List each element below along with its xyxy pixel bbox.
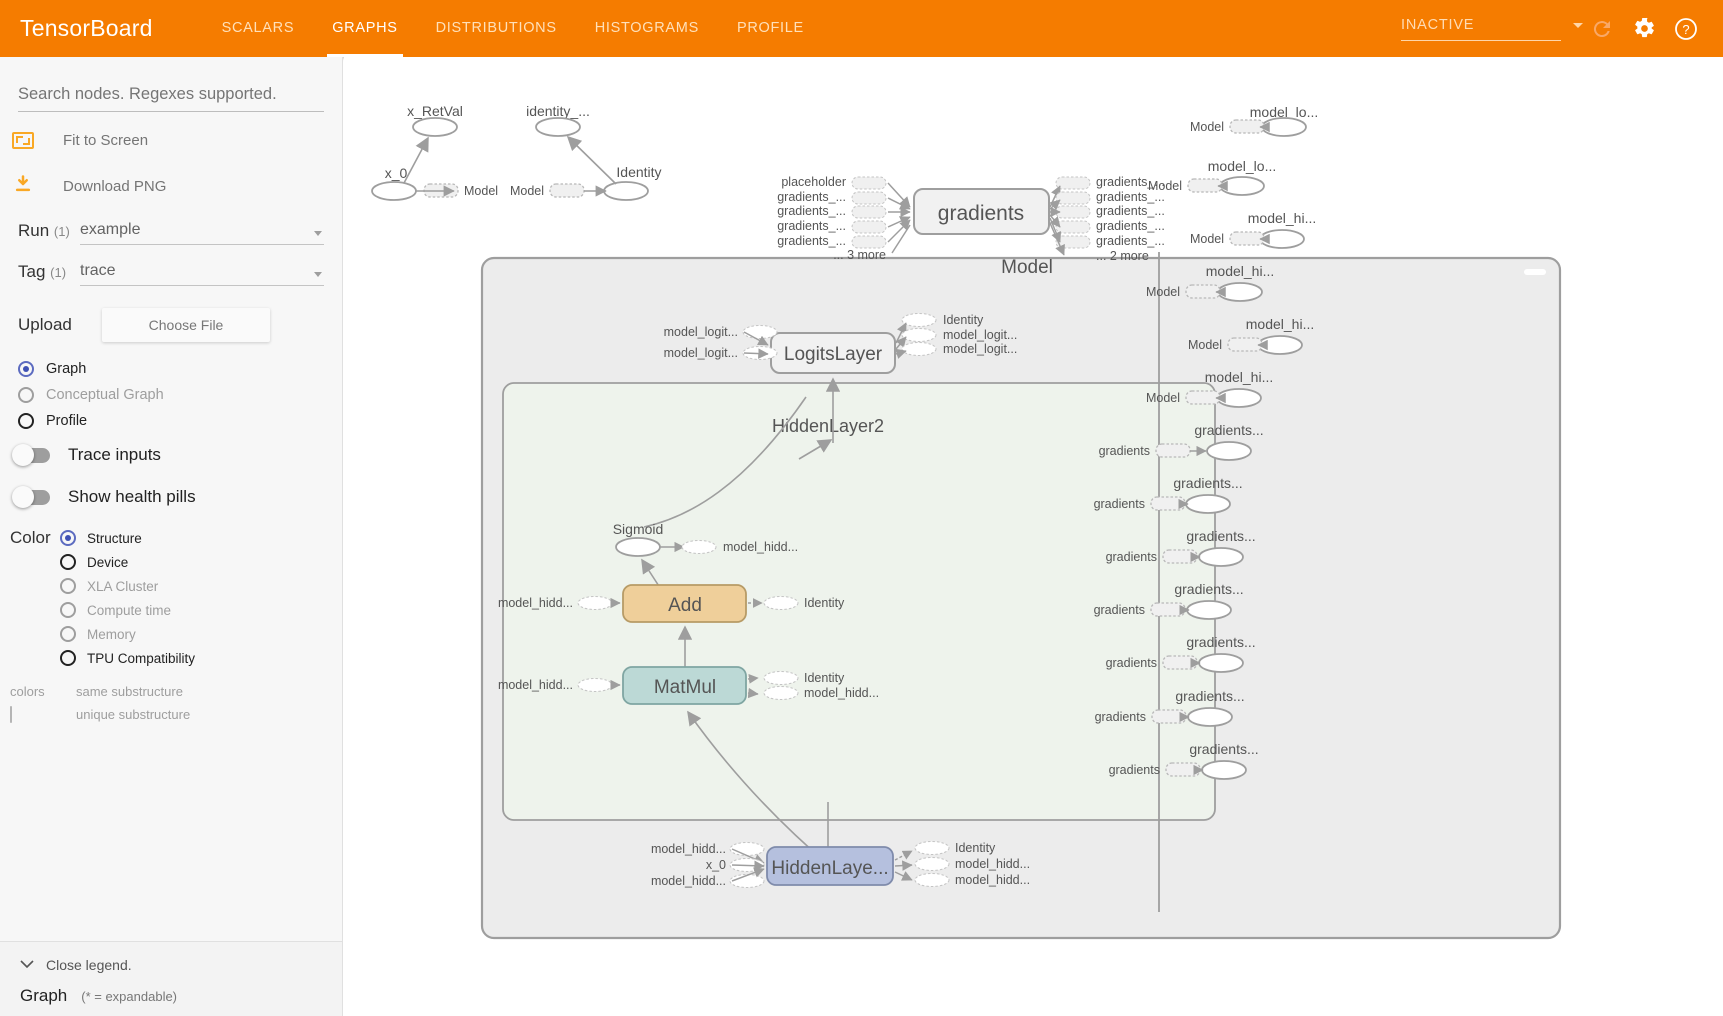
hiddenlayer-input-label: x_0 <box>706 858 726 872</box>
annotation-label-model: Model <box>464 184 498 198</box>
node-label-identity: Identity <box>616 164 661 180</box>
cluster-model-title: Model <box>1001 257 1053 278</box>
main-nav-tabs: SCALARS GRAPHS DISTRIBUTIONS HISTOGRAMS … <box>203 0 823 57</box>
tab-distributions[interactable]: DISTRIBUTIONS <box>417 0 576 57</box>
radio-conceptual-graph[interactable]: Conceptual Graph <box>0 382 342 408</box>
annotation-node <box>1186 391 1220 404</box>
annotation-node <box>1166 763 1200 776</box>
run-status-select[interactable]: INACTIVE <box>1401 17 1561 41</box>
annotation-node <box>1230 232 1264 245</box>
right-node-label: gradients... <box>1189 741 1258 757</box>
annotation-node <box>852 236 886 248</box>
annotation-node <box>1152 710 1186 723</box>
right-node-source: Model <box>1188 338 1222 352</box>
right-node-label: model_hi... <box>1205 369 1273 385</box>
gear-icon[interactable] <box>1623 8 1665 50</box>
color-radio-group: Color Structure Device XLA Cluster Compu… <box>0 526 342 670</box>
chevron-down-icon <box>314 272 322 277</box>
hiddenlayer-output-label: Identity <box>955 841 996 855</box>
annotation-node-model-2 <box>550 184 584 197</box>
add-input-label: model_hidd... <box>498 596 573 610</box>
right-node-source: Model <box>1146 391 1180 405</box>
radio-color-compute-time[interactable]: Compute time <box>60 598 195 622</box>
right-node[interactable] <box>1260 230 1304 248</box>
node-identity-dots[interactable] <box>536 118 580 136</box>
legend-graph-row: Graph (* = expandable) <box>20 986 343 1006</box>
right-node-source: gradients <box>1094 497 1145 511</box>
gradients-output-more-label: ... 2 more <box>1096 249 1149 263</box>
right-node[interactable] <box>1199 548 1243 566</box>
node-gradients-group[interactable]: gradients placeholder gradients_... grad… <box>777 175 1165 263</box>
node-label-identity-dots: identity_... <box>526 103 590 119</box>
annotation-node <box>852 177 886 189</box>
annotation-node <box>1056 206 1090 218</box>
right-node-source: gradients <box>1099 444 1150 458</box>
legend-graph-hint: (* = expandable) <box>81 989 177 1004</box>
upload-row: Upload Choose File <box>0 308 342 342</box>
annotation-node <box>1163 550 1197 563</box>
node-identity[interactable] <box>604 182 648 200</box>
hiddenlayer-input-label: model_hidd... <box>651 874 726 888</box>
node-logitslayer-label: LogitsLayer <box>784 344 883 365</box>
annotation-node <box>902 314 936 327</box>
right-node-label: gradients... <box>1173 475 1242 491</box>
radio-icon <box>18 387 34 403</box>
node-x-retval[interactable] <box>413 118 457 136</box>
node-label-x-0: x_0 <box>385 165 408 181</box>
logits-output-label: model_logit... <box>943 342 1017 356</box>
radio-icon <box>60 650 76 666</box>
fit-to-screen-button[interactable]: Fit to Screen <box>0 122 342 158</box>
radio-color-device-label: Device <box>87 555 128 570</box>
annotation-node <box>1151 603 1185 616</box>
annotation-node <box>852 206 886 218</box>
legend-unique-label: unique substructure <box>76 707 190 722</box>
annotation-node <box>682 541 716 554</box>
fit-to-screen-label: Fit to Screen <box>63 132 148 149</box>
annotation-node <box>902 343 936 356</box>
right-node-label: gradients... <box>1186 528 1255 544</box>
matmul-output-label: model_hidd... <box>804 686 879 700</box>
radio-icon <box>60 578 76 594</box>
logits-input-label: model_logit... <box>664 325 738 339</box>
annotation-node <box>1186 285 1220 298</box>
radio-color-structure[interactable]: Structure <box>60 526 195 550</box>
app-brand: TensorBoard <box>20 15 153 42</box>
structure-color-legend: colors same substructure unique substruc… <box>0 680 342 726</box>
top-bar-right-controls: INACTIVE ? <box>1401 8 1723 50</box>
trace-inputs-label: Trace inputs <box>68 445 161 465</box>
radio-graph-label: Graph <box>46 361 86 377</box>
annotation-node <box>578 597 612 610</box>
right-node-source: Model <box>1148 179 1182 193</box>
show-health-pills-label: Show health pills <box>68 487 196 507</box>
annotation-node <box>578 679 612 692</box>
radio-color-xla-cluster[interactable]: XLA Cluster <box>60 574 195 598</box>
gradients-output-label: gradients_... <box>1096 204 1165 218</box>
legend-same-label: same substructure <box>76 684 183 699</box>
annotation-node <box>1056 192 1090 204</box>
node-hiddenlayer-label: HiddenLaye... <box>771 858 888 879</box>
graph-type-radio-group: Graph Conceptual Graph Profile <box>0 356 342 434</box>
gradients-output-label: gradients_... <box>1096 234 1165 248</box>
right-node[interactable] <box>1187 601 1231 619</box>
run-dropdown[interactable]: example <box>80 221 324 245</box>
subgraph-identity: identity_... Identity Model <box>510 103 662 200</box>
radio-icon <box>60 554 76 570</box>
search-input[interactable] <box>18 81 324 112</box>
radio-color-structure-label: Structure <box>87 531 142 546</box>
annotation-node <box>1056 236 1090 248</box>
gradients-output-label: gradients_... <box>1096 219 1165 233</box>
gradients-input-label: gradients_... <box>777 234 846 248</box>
legend-graph-title: Graph <box>20 986 67 1006</box>
refresh-icon[interactable] <box>1581 8 1623 50</box>
right-node[interactable] <box>1218 283 1262 301</box>
right-node[interactable] <box>1199 654 1243 672</box>
annotation-node <box>1056 221 1090 233</box>
right-node-source: gradients <box>1094 603 1145 617</box>
hiddenlayer-input-label: model_hidd... <box>651 842 726 856</box>
right-node-label: model_hi... <box>1246 316 1314 332</box>
annotation-label-model-2: Model <box>510 184 544 198</box>
annotation-node <box>1156 444 1190 457</box>
choose-file-button[interactable]: Choose File <box>102 308 270 342</box>
right-node-label: gradients... <box>1175 688 1244 704</box>
tab-scalars[interactable]: SCALARS <box>203 0 314 57</box>
logits-output-label: model_logit... <box>943 328 1017 342</box>
search-container <box>0 57 342 112</box>
annotation-node <box>743 326 777 339</box>
tag-label: Tag (1) <box>18 259 80 286</box>
run-label: Run (1) <box>18 218 80 245</box>
right-node-label: model_hi... <box>1206 263 1274 279</box>
tag-value: trace <box>80 262 116 279</box>
add-output-label: Identity <box>804 596 845 610</box>
matmul-input-label: model_hidd... <box>498 678 573 692</box>
toggle-switch-icon <box>14 490 50 505</box>
download-png-label: Download PNG <box>63 178 166 195</box>
radio-color-tpu-compatibility[interactable]: TPU Compatibility <box>60 646 195 670</box>
right-node-source: gradients <box>1106 550 1157 564</box>
left-sidebar: Fit to Screen Download PNG Run (1) examp… <box>0 57 343 1016</box>
radio-color-compute-time-label: Compute time <box>87 603 171 618</box>
right-node-source: gradients <box>1095 710 1146 724</box>
right-node[interactable] <box>1188 708 1232 726</box>
annotation-node <box>730 875 764 888</box>
tag-dropdown[interactable]: trace <box>80 262 324 286</box>
annotation-node <box>764 687 798 700</box>
right-node-label: gradients... <box>1174 581 1243 597</box>
run-selector-row: Run (1) example <box>0 218 342 245</box>
color-title: Color <box>10 526 60 670</box>
tab-histograms[interactable]: HISTOGRAMS <box>576 0 718 57</box>
right-node-source: gradients <box>1106 656 1157 670</box>
radio-icon <box>18 413 34 429</box>
annotation-node <box>852 221 886 233</box>
annotation-node <box>764 597 798 610</box>
annotation-node <box>1188 179 1222 192</box>
tab-graphs[interactable]: GRAPHS <box>313 0 416 57</box>
radio-color-device[interactable]: Device <box>60 550 195 574</box>
download-png-button[interactable]: Download PNG <box>0 168 342 204</box>
chevron-down-icon <box>20 956 34 974</box>
svg-text:?: ? <box>1682 22 1689 37</box>
gradients-inputs: placeholder gradients_... gradients_... … <box>777 175 910 262</box>
logits-output-label: Identity <box>943 313 984 327</box>
annotation-node <box>915 874 949 887</box>
sigmoid-output-label: model_hidd... <box>723 540 798 554</box>
right-node[interactable] <box>1207 442 1251 460</box>
right-node-label: model_hi... <box>1248 210 1316 226</box>
node-add-label: Add <box>668 595 702 616</box>
annotation-node <box>915 842 949 855</box>
run-value: example <box>80 221 140 238</box>
annotation-node <box>1151 497 1185 510</box>
run-status-value: INACTIVE <box>1401 17 1561 33</box>
right-node-label: gradients... <box>1186 634 1255 650</box>
right-node-source: Model <box>1146 285 1180 299</box>
legend-swatch <box>10 706 12 723</box>
node-x-0[interactable] <box>372 182 416 200</box>
right-node-label: model_lo... <box>1208 158 1276 174</box>
graph-canvas[interactable]: Model HiddenLayer2 x_RetVal x_0 Model id… <box>344 57 1723 1016</box>
annotation-node <box>730 843 764 856</box>
right-node[interactable] <box>1262 118 1306 136</box>
annotation-node <box>1163 656 1197 669</box>
right-node-label: gradients... <box>1194 422 1263 438</box>
annotation-node <box>915 858 949 871</box>
radio-color-xla-cluster-label: XLA Cluster <box>87 579 158 594</box>
right-node-source: gradients <box>1109 763 1160 777</box>
tab-profile[interactable]: PROFILE <box>718 0 823 57</box>
top-app-bar: TensorBoard SCALARS GRAPHS DISTRIBUTIONS… <box>0 0 1723 57</box>
radio-icon <box>60 530 76 546</box>
radio-icon <box>60 626 76 642</box>
close-legend-label: Close legend. <box>46 957 132 973</box>
show-health-pills-toggle[interactable]: Show health pills <box>0 476 342 518</box>
radio-color-memory-label: Memory <box>87 627 136 642</box>
node-gradients-label: gradients <box>938 202 1024 225</box>
right-node[interactable] <box>1217 389 1261 407</box>
gradients-input-label: gradients_... <box>777 190 846 204</box>
right-node[interactable] <box>1202 761 1246 779</box>
cluster-hiddenlayer2-title: HiddenLayer2 <box>772 416 884 436</box>
legend-colors-label: colors <box>10 684 62 699</box>
radio-profile-label: Profile <box>46 413 87 429</box>
annotation-node <box>902 329 936 342</box>
radio-graph[interactable]: Graph <box>0 356 342 382</box>
node-sigmoid[interactable] <box>616 538 660 556</box>
gradients-input-label: placeholder <box>781 175 846 189</box>
upload-label: Upload <box>18 315 80 335</box>
right-node-source: Model <box>1190 232 1224 246</box>
chevron-down-icon <box>1573 23 1583 28</box>
gradients-input-label: gradients_... <box>777 204 846 218</box>
hiddenlayer-output-label: model_hidd... <box>955 873 1030 887</box>
matmul-output-label: Identity <box>804 671 845 685</box>
download-icon <box>12 174 34 199</box>
chevron-down-icon <box>314 231 322 236</box>
subgraph-x-retval: x_RetVal x_0 Model <box>372 103 498 200</box>
right-node[interactable] <box>1186 495 1230 513</box>
logits-input-label: model_logit... <box>664 346 738 360</box>
radio-color-memory[interactable]: Memory <box>60 622 195 646</box>
node-sigmoid-label: Sigmoid <box>613 521 664 537</box>
annotation-node <box>1228 338 1262 351</box>
radio-color-tpu-compatibility-label: TPU Compatibility <box>87 651 195 666</box>
radio-icon <box>60 602 76 618</box>
annotation-node <box>852 192 886 204</box>
gradients-input-label: gradients_... <box>777 219 846 233</box>
annotation-node <box>764 672 798 685</box>
annotation-node <box>1056 177 1090 189</box>
node-hiddenlayer-group[interactable]: HiddenLaye... model_hidd... x_0 model_hi… <box>651 841 1030 888</box>
hiddenlayer-output-label: model_hidd... <box>955 857 1030 871</box>
fit-to-screen-icon <box>12 132 34 149</box>
legend-same-substructure: colors same substructure <box>10 680 342 703</box>
right-node[interactable] <box>1258 336 1302 354</box>
node-matmul-label: MatMul <box>654 677 716 698</box>
radio-profile[interactable]: Profile <box>0 408 342 434</box>
radio-conceptual-graph-label: Conceptual Graph <box>46 387 164 403</box>
right-node-source: Model <box>1190 120 1224 134</box>
legend-unique-substructure: unique substructure <box>10 703 342 726</box>
right-node[interactable] <box>1220 177 1264 195</box>
close-legend-button[interactable]: Close legend. <box>20 956 343 974</box>
legend-footer: Close legend. Graph (* = expandable) <box>0 941 343 1016</box>
toggle-switch-icon <box>14 448 50 463</box>
gradients-input-more-label: ... 3 more <box>833 248 886 262</box>
help-icon[interactable]: ? <box>1665 8 1707 50</box>
trace-inputs-toggle[interactable]: Trace inputs <box>0 434 342 476</box>
radio-icon <box>18 361 34 377</box>
tag-selector-row: Tag (1) trace <box>0 259 342 286</box>
annotation-node <box>1230 120 1264 133</box>
node-label-x-retval: x_RetVal <box>407 103 463 119</box>
